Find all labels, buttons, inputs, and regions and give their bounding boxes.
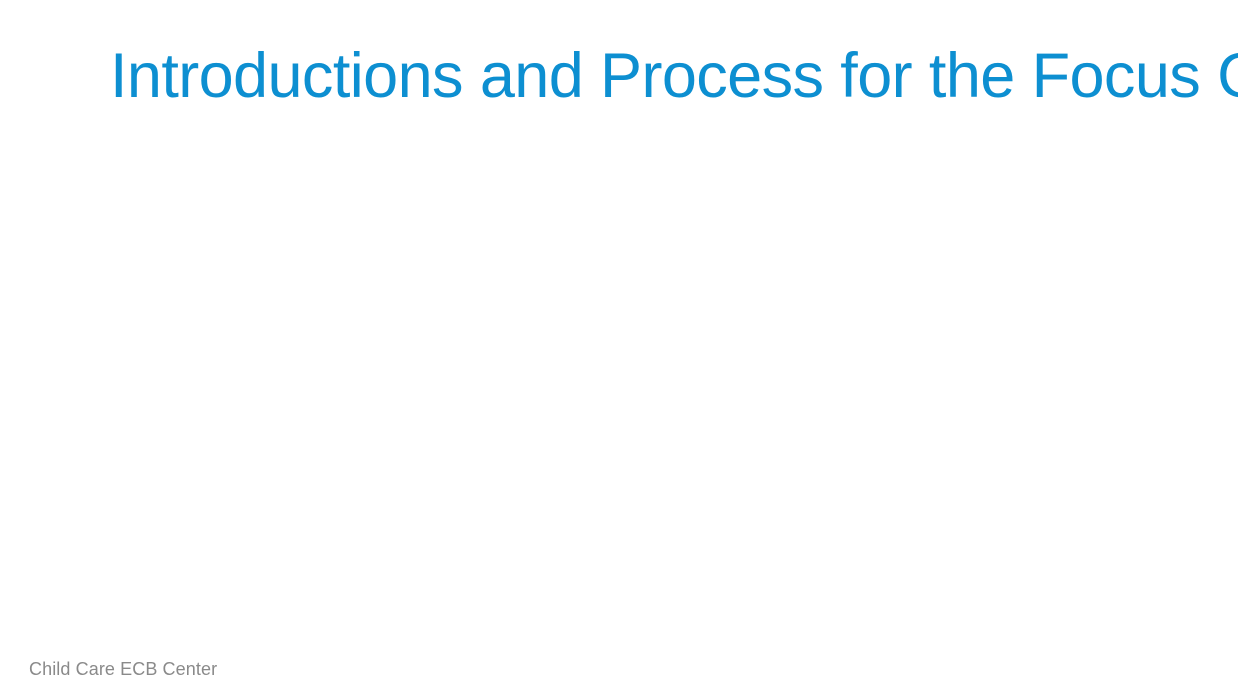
page-title: Introductions and Process for the Focus … bbox=[110, 44, 1238, 110]
slide-title-placeholder[interactable]: Introductions and Process for the Focus … bbox=[110, 44, 1140, 128]
slide-body-placeholder[interactable] bbox=[110, 150, 1140, 610]
footer-label: Child Care ECB Center bbox=[29, 657, 217, 681]
slide-footer: Child Care ECB Center bbox=[29, 657, 217, 681]
slide-canvas: Introductions and Process for the Focus … bbox=[0, 0, 1238, 696]
